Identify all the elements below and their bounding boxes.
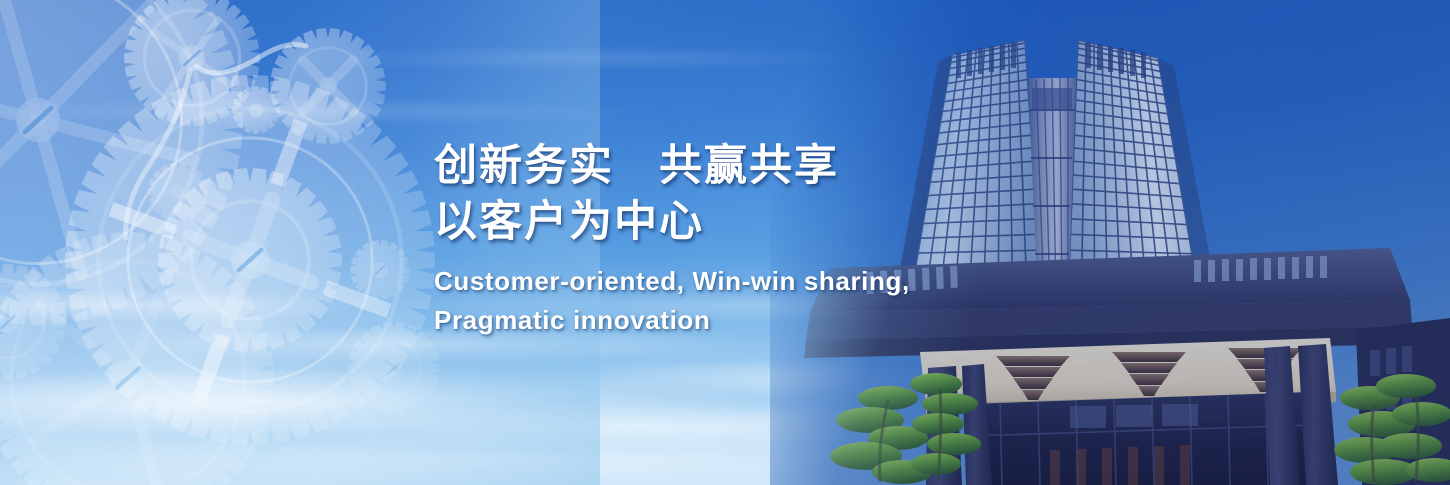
hero-banner: 创新务实 共赢共享 以客户为中心 Customer-oriented, Win-… — [0, 0, 1450, 485]
headline-chinese-line1: 创新务实 共赢共享 — [434, 140, 1074, 193]
subheadline-english-line2: Pragmatic innovation — [434, 301, 1074, 340]
banner-copy-block: 创新务实 共赢共享 以客户为中心 Customer-oriented, Win-… — [434, 140, 1074, 340]
subheadline-english-line1: Customer-oriented, Win-win sharing, — [434, 262, 1074, 301]
headline-chinese-line2: 以客户为中心 — [434, 196, 1074, 249]
subheadline-english: Customer-oriented, Win-win sharing, Prag… — [434, 262, 1074, 340]
